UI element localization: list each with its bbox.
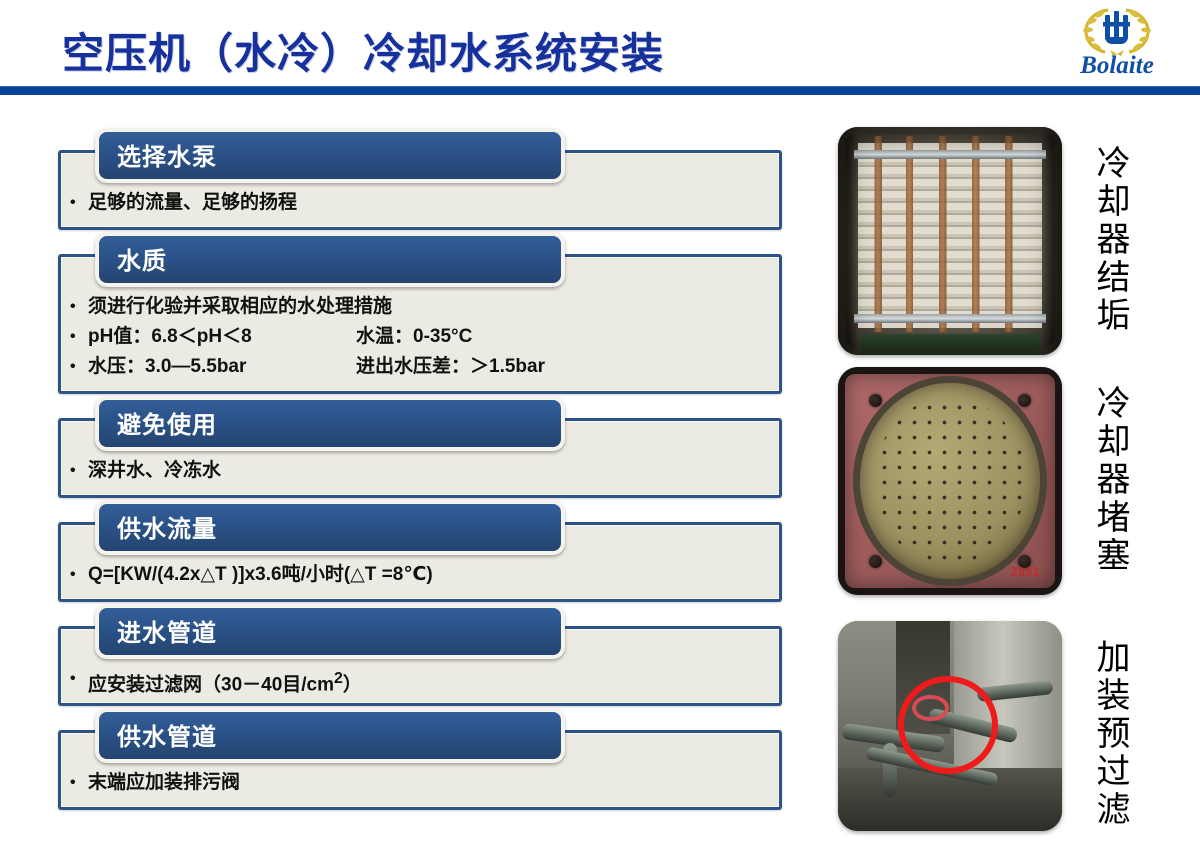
photo-block-prefilter: 加装预过滤 <box>838 621 1062 831</box>
annotation-circle-small <box>912 695 949 722</box>
bullet-item: 应安装过滤网（30－40目/cm2） <box>62 664 778 700</box>
photo-label-prefilter: 加装预过滤 <box>1086 639 1130 829</box>
photo-column: 冷却器结垢 2001 冷却器堵塞 <box>800 100 1200 858</box>
blocked-cooler-tube-sheet-photo[interactable]: 2001 <box>838 367 1062 595</box>
bullet-item: 须进行化验并采取相应的水处理措施 <box>62 292 778 322</box>
section-header-avoid-use[interactable]: 避免使用 <box>95 396 565 451</box>
brand-logo: Bolaite <box>1052 4 1182 86</box>
header-divider-rule <box>0 86 1200 95</box>
section-header-select-pump[interactable]: 选择水泵 <box>95 128 565 183</box>
bullet-item-formula: Q=[KW/(4.2x△T )]x3.6吨/小时(△T =8℃) <box>62 560 778 590</box>
bullet-col-left: pH值：6.8＜pH＜8 <box>88 322 356 352</box>
logo-wordmark: Bolaite <box>1052 52 1182 80</box>
annotation-circle-red <box>898 676 997 774</box>
bolaite-wreath-monogram-icon <box>1078 4 1156 56</box>
photo-stamp: 2001 <box>1011 565 1040 579</box>
photo-block-cooler-blockage: 2001 冷却器堵塞 <box>838 367 1062 595</box>
bullet-item: 末端应加装排污阀 <box>62 768 778 798</box>
section-header-supply-flow[interactable]: 供水流量 <box>95 500 565 555</box>
page-title: 空压机（水冷）冷却水系统安装 <box>62 20 664 81</box>
photo-label-cooler-scaling: 冷却器结垢 <box>1086 145 1130 335</box>
section-header-inlet-pipe[interactable]: 进水管道 <box>95 604 565 659</box>
slide-header: 空压机（水冷）冷却水系统安装 <box>0 0 1200 96</box>
scaled-cooler-tube-bundle-photo[interactable] <box>838 127 1062 355</box>
bullet-item: 深井水、冷冻水 <box>62 456 778 486</box>
bullet-text-superscript: 2 <box>334 670 343 687</box>
bullet-item: pH值：6.8＜pH＜8 水温：0-35°C <box>62 322 778 352</box>
bullet-col-left: 水压：3.0—5.5bar <box>88 352 356 382</box>
bullet-col-right: 进出水压差：＞1.5bar <box>356 352 778 382</box>
section-header-water-quality[interactable]: 水质 <box>95 232 565 287</box>
bullet-text-prefix: 应安装过滤网（30－40目/cm <box>88 674 334 695</box>
bullet-col-right: 水温：0-35°C <box>356 322 778 352</box>
content-sections-column: 足够的流量、足够的扬程 选择水泵 须进行化验并采取相应的水处理措施 pH值：6.… <box>0 100 800 858</box>
bullet-item: 水压：3.0—5.5bar 进出水压差：＞1.5bar <box>62 352 778 382</box>
bullet-text-suffix: ） <box>343 674 362 695</box>
photo-block-cooler-scaling: 冷却器结垢 <box>838 127 1062 355</box>
bullet-item: 足够的流量、足够的扬程 <box>62 188 778 218</box>
photo-label-cooler-blockage: 冷却器堵塞 <box>1086 385 1130 575</box>
section-header-supply-pipe[interactable]: 供水管道 <box>95 708 565 763</box>
pre-filter-installation-piping-photo[interactable] <box>838 621 1062 831</box>
